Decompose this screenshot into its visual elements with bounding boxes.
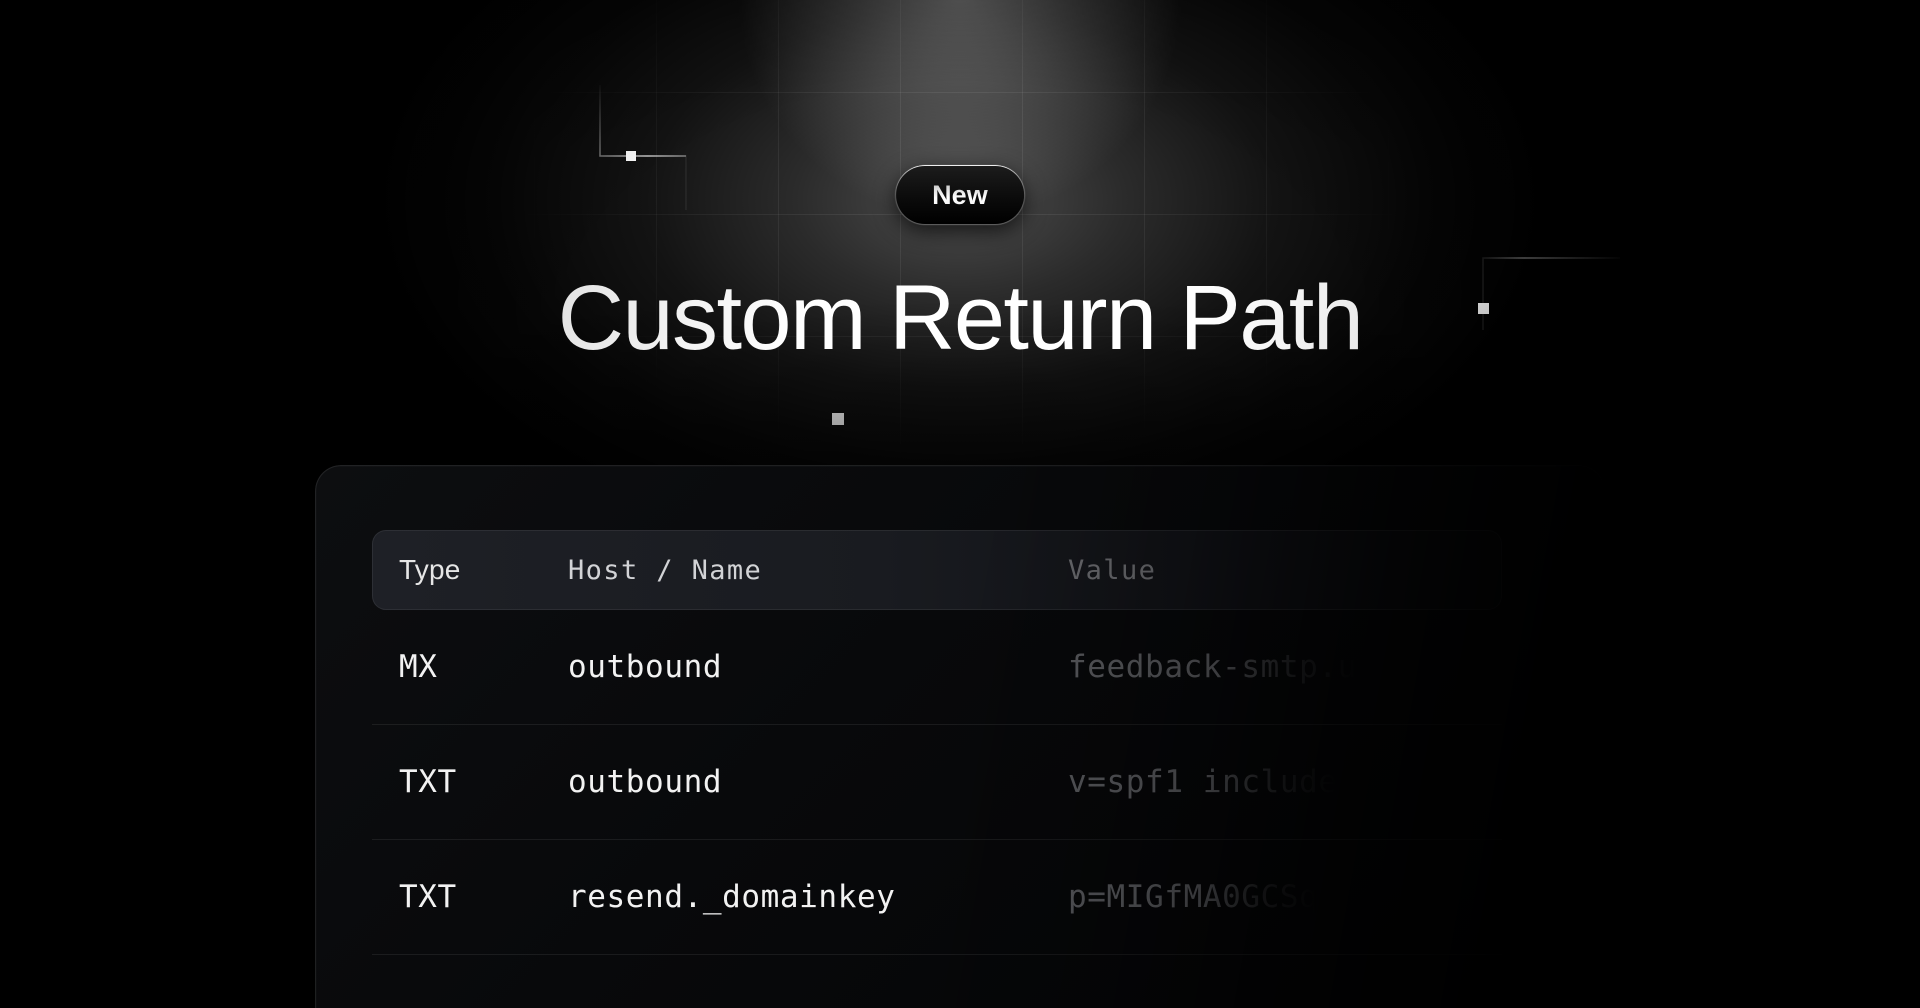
dns-value-value: v=spf1 include: [1068, 764, 1338, 800]
background-grid: [420, 0, 1500, 470]
dns-records-card: Type Host / Name Value MX outbound feedb…: [315, 465, 1605, 1008]
hero-stage: New Custom Return Path Type Host / Name …: [0, 0, 1920, 1008]
dns-header-cell-value: Value: [1068, 555, 1502, 586]
dns-cell-host: resend._domainkey: [568, 879, 1068, 915]
dns-header-label-type: Type: [399, 554, 461, 585]
dns-value-host: outbound: [568, 649, 722, 685]
dns-header-cell-host: Host / Name: [568, 555, 1068, 586]
dns-cell-host: outbound: [568, 649, 1068, 685]
new-badge-label: New: [932, 180, 988, 211]
dns-table-header-row: Type Host / Name Value: [372, 530, 1502, 610]
dns-cell-type: MX: [372, 649, 568, 685]
dns-cell-type: TXT: [372, 764, 568, 800]
dns-records-inner: Type Host / Name Value MX outbound feedb…: [372, 530, 1605, 1008]
dns-cell-host: outbound: [568, 764, 1068, 800]
dns-value-host: resend._domainkey: [568, 879, 895, 915]
dns-cell-value: p=MIGfMA0GCSq: [1068, 879, 1502, 915]
dns-value-type: MX: [399, 649, 438, 685]
dns-cell-value: v=spf1 include: [1068, 764, 1502, 800]
dns-value-host: outbound: [568, 764, 722, 800]
table-row[interactable]: TXT resend._domainkey p=MIGfMA0GCSq: [372, 840, 1502, 955]
table-row[interactable]: TXT outbound v=spf1 include: [372, 725, 1502, 840]
dns-header-cell-type: Type: [372, 554, 568, 586]
dns-value-type: TXT: [399, 879, 457, 915]
dns-cell-type: TXT: [372, 879, 568, 915]
dns-header-label-value: Value: [1068, 555, 1156, 586]
page-title: Custom Return Path: [0, 270, 1920, 367]
new-badge: New: [896, 166, 1024, 224]
dns-cell-value: feedback-smtp.u: [1068, 649, 1502, 685]
new-badge-wrapper: New: [896, 166, 1024, 224]
dns-value-value: feedback-smtp.u: [1068, 649, 1357, 685]
dns-value-type: TXT: [399, 764, 457, 800]
table-row[interactable]: MX outbound feedback-smtp.u: [372, 610, 1502, 725]
dns-value-value: p=MIGfMA0GCSq: [1068, 879, 1318, 915]
dns-header-label-host: Host / Name: [568, 555, 762, 586]
